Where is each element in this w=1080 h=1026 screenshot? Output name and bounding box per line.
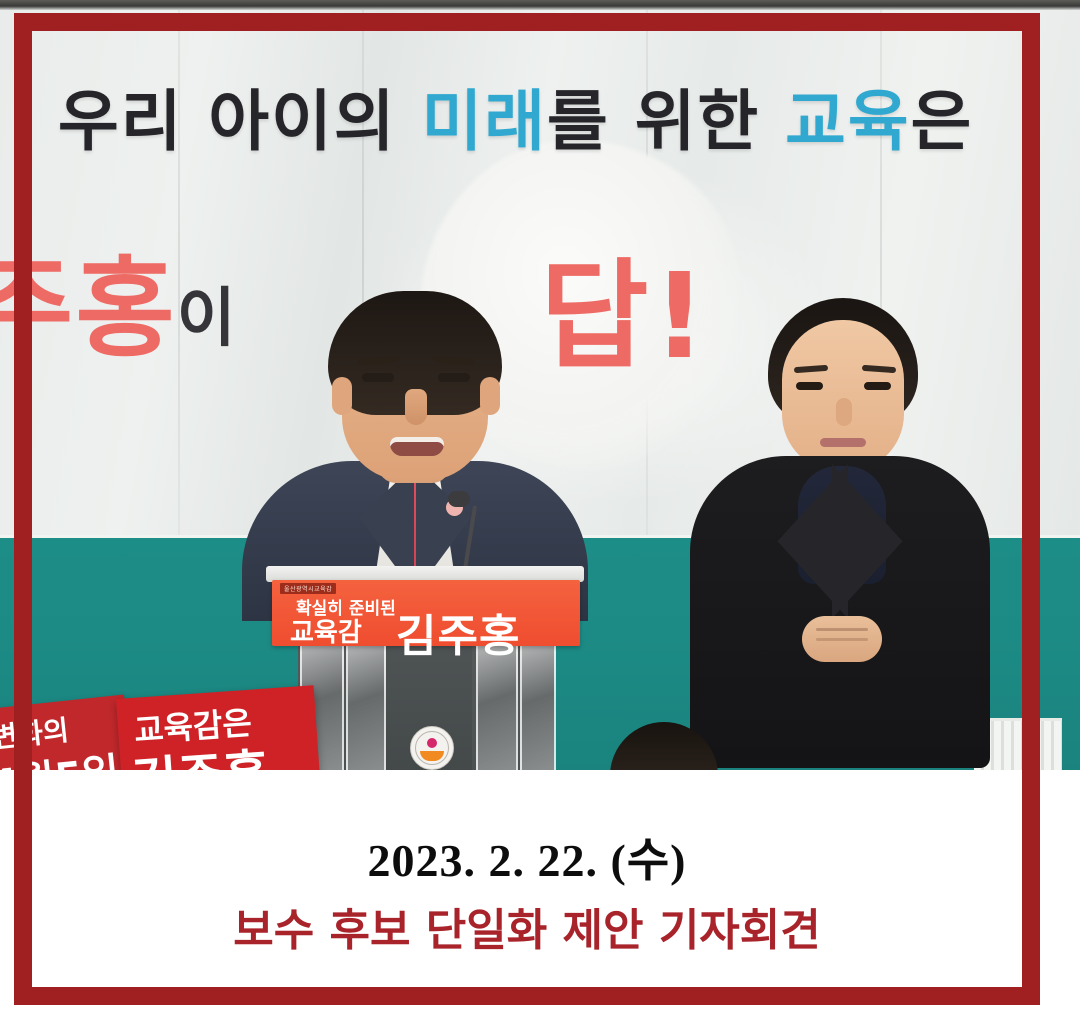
- speaker-eye-right: [438, 373, 470, 382]
- caption-date: 2023. 2. 22. (수): [32, 824, 1022, 890]
- speaker-eye-left: [362, 373, 394, 382]
- podium-sign-org-chip: 울산광역시교육감: [280, 583, 336, 594]
- caption-title: 보수 후보 단일화 제안 기자회견: [32, 894, 1022, 958]
- microphone-icon: [448, 491, 470, 507]
- speaker-mouth: [390, 437, 444, 456]
- banner-headline-line2: 주홍이: [0, 222, 238, 378]
- banner-line1-suffix: 은: [911, 83, 974, 160]
- podium-glass-panel-3: [476, 646, 518, 770]
- podium-sign-name: 김주홍: [396, 600, 520, 664]
- placard-change-date: 변화의 4월5일: [0, 695, 135, 770]
- banner-line2-name: 주홍: [0, 247, 177, 372]
- banner-line1-prefix: 우리 아이의: [58, 83, 422, 160]
- attendant-eye-right: [864, 382, 891, 390]
- banner-line1-middle: 를 위한: [547, 83, 785, 160]
- press-conference-photo: 우리 아이의 미래를 위한 교육은 주홍이 답!: [0, 10, 1080, 770]
- banner-line1-blue-future: 미래: [422, 83, 547, 160]
- attendant-nose: [836, 398, 852, 426]
- banner-line1-blue-education: 교육: [785, 83, 910, 160]
- attendant-clasped-hands: [802, 616, 882, 662]
- banner-line2-particle: 이: [177, 282, 238, 356]
- attendant-eye-left: [796, 382, 823, 390]
- banner-headline-line1: 우리 아이의 미래를 위한 교육은: [58, 68, 973, 164]
- podium-glass-panel-2: [346, 646, 386, 770]
- attendant-mouth: [820, 438, 866, 447]
- attendant-face: [782, 320, 904, 472]
- podium-name-sign: 울산광역시교육감 확실히 준비된 교육감 김주홍: [272, 580, 580, 646]
- podium-sign-role: 교육감: [290, 612, 362, 649]
- screenshot-canvas: 우리 아이의 미래를 위한 교육은 주홍이 답!: [0, 0, 1080, 1026]
- placard-superintendent-name: 교육감은 김주홍: [116, 685, 322, 770]
- podium-glass-panel-4: [520, 646, 556, 770]
- speaker-ear-right: [480, 377, 500, 415]
- speaker-nose: [405, 389, 427, 425]
- standing-attendant: [690, 298, 990, 768]
- caption-block: 2023. 2. 22. (수) 보수 후보 단일화 제안 기자회견: [32, 772, 1022, 988]
- office-of-education-emblem-icon: [410, 726, 454, 770]
- podium-front-panel: [298, 646, 554, 770]
- speaker-ear-left: [332, 377, 352, 415]
